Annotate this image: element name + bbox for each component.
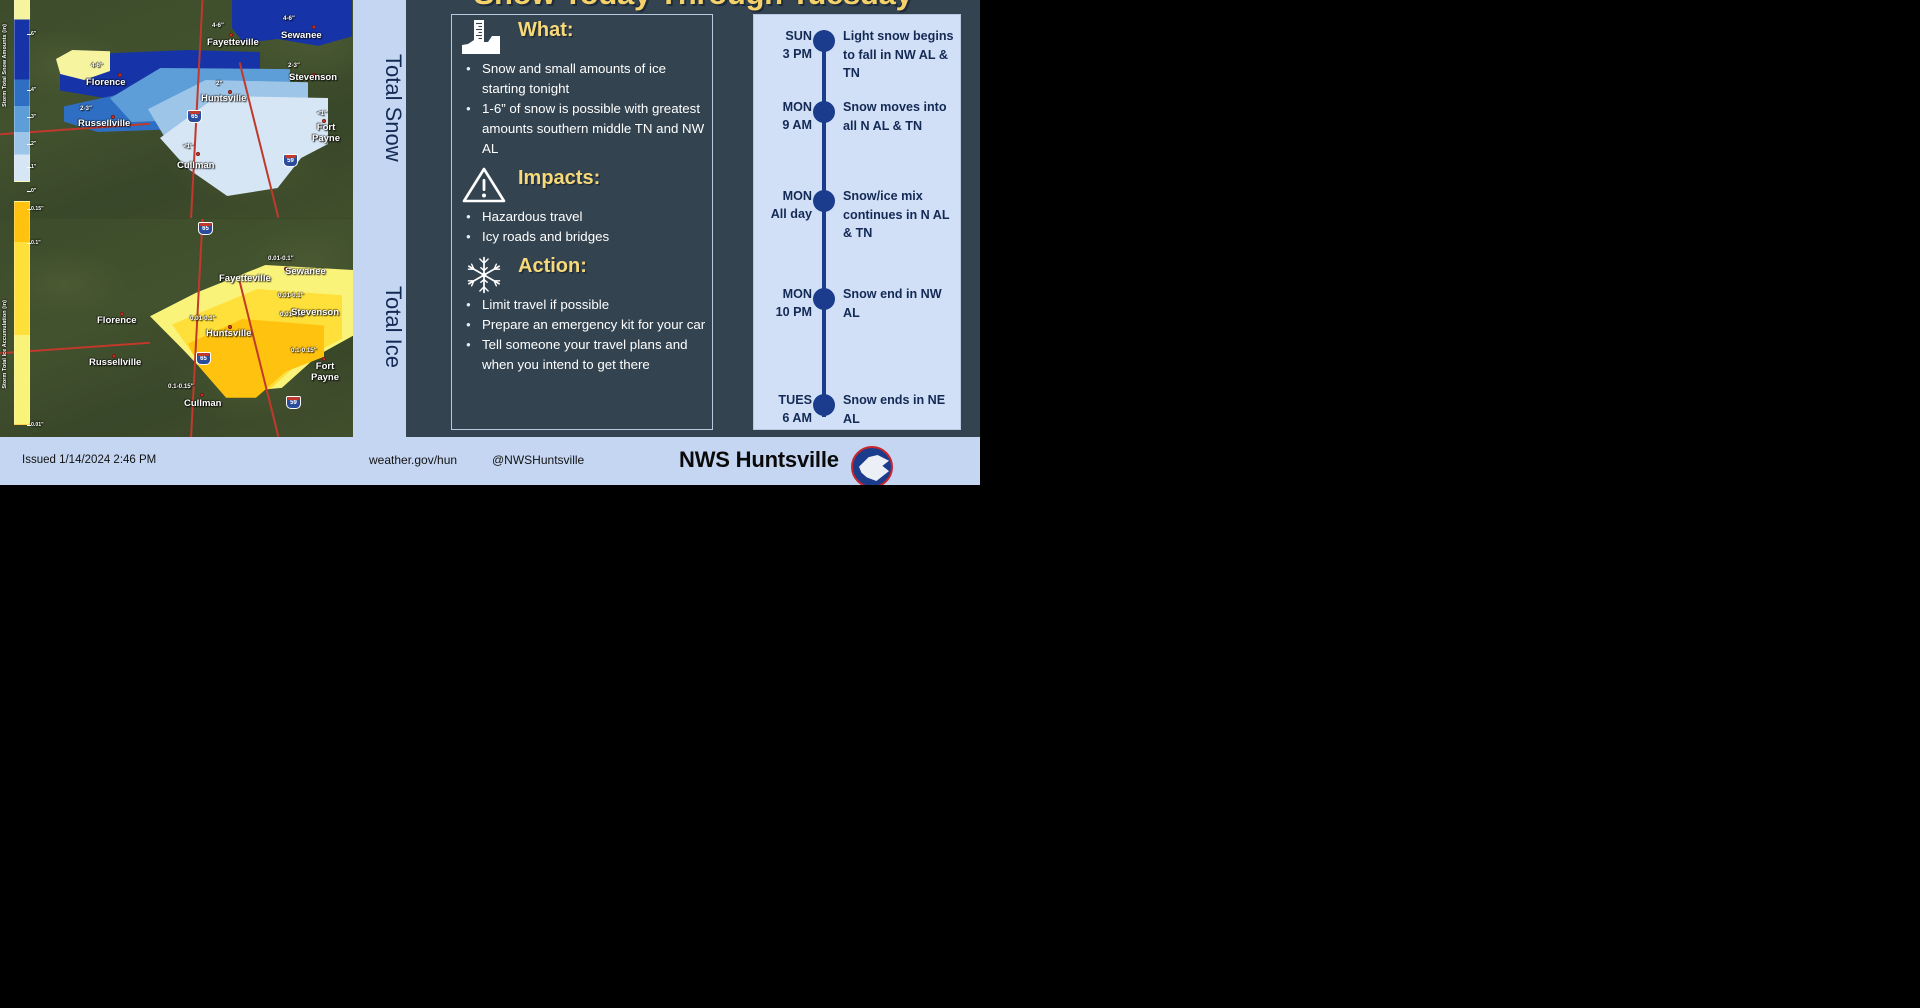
timeline-hour-1: 9 AM bbox=[754, 116, 812, 134]
timeline-day-3: MON bbox=[754, 285, 812, 303]
ice-tick-015: 0.15" bbox=[31, 206, 44, 212]
snow-scale-title: Storm Total Snow Amounts (in) bbox=[2, 24, 8, 107]
snow-tick-1: 1" bbox=[31, 164, 36, 170]
timeline-axis bbox=[822, 35, 826, 417]
timeline-event-0: Light snow begins to fall in NW AL & TN bbox=[843, 27, 959, 83]
timeline-time-4: TUES 6 AM bbox=[754, 391, 812, 427]
what-bullets: Snow and small amounts of ice starting t… bbox=[452, 59, 712, 159]
ice-city-label-fort-payne: Fort Payne bbox=[306, 361, 344, 383]
timeline-event-2: Snow/ice mix continues in N AL & TN bbox=[843, 187, 959, 243]
storm-timeline: SUN 3 PM Light snow begins to fall in NW… bbox=[753, 14, 961, 430]
city-label-russellville: Russellville bbox=[78, 118, 130, 129]
ice-amount-cullman: 0.1-0.15" bbox=[168, 383, 194, 390]
ice-tick-001: 0.01" bbox=[31, 422, 44, 428]
ice-city-label-cullman: Cullman bbox=[184, 398, 221, 409]
what-section-title: What: bbox=[518, 19, 574, 42]
weather-graphic: 65 59 4-6" Fayetteville 4-6" Sewanee 4-6… bbox=[0, 0, 980, 485]
snow-amount-russellville: 2-3" bbox=[80, 105, 92, 112]
highway-shield-59: 59 bbox=[283, 154, 298, 167]
timeline-day-2: MON bbox=[754, 187, 812, 205]
snow-amount-sewanee: 4-6" bbox=[283, 15, 295, 22]
timeline-hour-4: 6 AM bbox=[754, 409, 812, 427]
what-impacts-action-card: What: Snow and small amounts of ice star… bbox=[451, 14, 713, 430]
list-item: Snow and small amounts of ice starting t… bbox=[452, 59, 712, 99]
city-label-fort-payne: Fort Payne bbox=[308, 122, 344, 144]
highway-shield-65b-ice: 65 bbox=[196, 352, 211, 365]
timeline-day-4: TUES bbox=[754, 391, 812, 409]
timeline-day-1: MON bbox=[754, 98, 812, 116]
snow-tick-4: 4" bbox=[31, 87, 36, 93]
ice-color-scale bbox=[14, 201, 30, 425]
what-section-header: What: bbox=[452, 15, 712, 59]
action-section-title: Action: bbox=[518, 255, 587, 278]
maps-column: 65 59 4-6" Fayetteville 4-6" Sewanee 4-6… bbox=[0, 0, 353, 437]
city-label-fayetteville: Fayetteville bbox=[207, 37, 259, 48]
timeline-dot-1 bbox=[813, 101, 835, 123]
page-title: Snow Today Through Tuesday bbox=[406, 0, 980, 10]
timeline-hour-0: 3 PM bbox=[754, 45, 812, 63]
list-item: Icy roads and bridges bbox=[452, 227, 712, 247]
list-item: 1-6” of snow is possible with greatest a… bbox=[452, 99, 712, 159]
ice-tick-01: 0.1" bbox=[31, 240, 41, 246]
list-item: Limit travel if possible bbox=[452, 295, 712, 315]
city-label-huntsville: Huntsville bbox=[201, 93, 246, 104]
ice-city-label-sewanee: Sewanee bbox=[285, 266, 326, 277]
warning-triangle-icon bbox=[460, 165, 508, 205]
ice-amount-fort-payne: 0.1-0.15" bbox=[291, 347, 317, 354]
ice-amount-sewanee: 0.01-0.1" bbox=[278, 292, 304, 299]
list-item: Hazardous travel bbox=[452, 207, 712, 227]
highway-shield-65: 65 bbox=[187, 110, 202, 123]
city-label-sewanee: Sewanee bbox=[281, 30, 322, 41]
timeline-time-2: MON All day bbox=[754, 187, 812, 223]
impacts-section-title: Impacts: bbox=[518, 167, 600, 190]
snow-depth-ruler-icon bbox=[460, 17, 508, 57]
website-link[interactable]: weather.gov/hun bbox=[369, 453, 457, 467]
action-section-header: Action: bbox=[452, 253, 712, 295]
ice-city-dot-cullman bbox=[200, 393, 204, 397]
ice-amount-huntsville: 0.01-0.1" bbox=[190, 315, 216, 322]
list-item: Prepare an emergency kit for your car bbox=[452, 315, 712, 335]
rail-label-total-snow: Total Snow bbox=[353, 8, 406, 208]
ice-city-label-florence: Florence bbox=[97, 315, 137, 326]
timeline-dot-3 bbox=[813, 288, 835, 310]
ice-city-label-fayetteville: Fayetteville bbox=[219, 273, 271, 284]
city-label-stevenson: Stevenson bbox=[289, 72, 337, 83]
snow-tick-3: 3" bbox=[31, 114, 36, 120]
ice-map: 65 65 59 0.01-0.1" Fayetteville 0.01-0.1… bbox=[0, 219, 353, 437]
snow-map: 65 59 4-6" Fayetteville 4-6" Sewanee 4-6… bbox=[0, 0, 353, 218]
snow-amount-fayetteville: 4-6" bbox=[212, 22, 224, 29]
rail-label-total-ice: Total Ice bbox=[353, 252, 406, 402]
impacts-bullets: Hazardous travel Icy roads and bridges bbox=[452, 207, 712, 247]
timeline-dot-4 bbox=[813, 394, 835, 416]
timeline-event-3: Snow end in NW AL bbox=[843, 285, 959, 322]
timeline-event-1: Snow moves into all N AL & TN bbox=[843, 98, 959, 135]
footer: Issued 1/14/2024 2:46 PM weather.gov/hun… bbox=[0, 437, 980, 485]
noaa-logo bbox=[851, 446, 893, 485]
action-bullets: Limit travel if possible Prepare an emer… bbox=[452, 295, 712, 375]
ice-city-label-russellville: Russellville bbox=[89, 357, 141, 368]
noaa-bird-shape bbox=[859, 455, 889, 481]
list-item: Tell someone your travel plans and when … bbox=[452, 335, 712, 375]
ice-amount-fayetteville: 0.01-0.1" bbox=[268, 255, 294, 262]
section-rail: Total Snow Total Ice bbox=[353, 0, 406, 437]
snowflake-icon bbox=[460, 253, 508, 293]
snow-amount-huntsville: 2" bbox=[216, 80, 222, 87]
city-label-florence: Florence bbox=[86, 77, 126, 88]
timeline-dot-2 bbox=[813, 190, 835, 212]
timeline-hour-2: All day bbox=[754, 205, 812, 223]
snow-tick-2: 2" bbox=[31, 141, 36, 147]
snow-amount-stevenson: 2-3" bbox=[288, 62, 300, 69]
timeline-time-3: MON 10 PM bbox=[754, 285, 812, 321]
timeline-dot-0 bbox=[813, 30, 835, 52]
snow-tick-0: 0" bbox=[31, 188, 36, 194]
timeline-time-1: MON 9 AM bbox=[754, 98, 812, 134]
office-name: NWS Huntsville bbox=[679, 447, 839, 473]
timeline-event-4: Snow ends in NE AL bbox=[843, 391, 959, 428]
city-dot-sewanee bbox=[312, 25, 316, 29]
snow-amount-cullman: <1" bbox=[183, 143, 193, 150]
ice-city-label-huntsville: Huntsville bbox=[206, 328, 251, 339]
twitter-handle[interactable]: @NWSHuntsville bbox=[492, 453, 584, 467]
snow-amount-fort-payne: <1" bbox=[317, 110, 327, 117]
city-label-cullman: Cullman bbox=[177, 160, 214, 171]
impacts-section-header: Impacts: bbox=[452, 165, 712, 207]
highway-shield-65-ice: 65 bbox=[198, 222, 213, 235]
snow-amount-florence: 4-6" bbox=[91, 62, 103, 69]
timeline-hour-3: 10 PM bbox=[754, 303, 812, 321]
timeline-day-0: SUN bbox=[754, 27, 812, 45]
highway-shield-59-ice: 59 bbox=[286, 396, 301, 409]
city-dot-cullman bbox=[196, 152, 200, 156]
timeline-time-0: SUN 3 PM bbox=[754, 27, 812, 63]
issued-timestamp: Issued 1/14/2024 2:46 PM bbox=[22, 454, 156, 466]
ice-scale-title: Storm Total Ice Accumulation (in) bbox=[2, 300, 8, 389]
snow-tick-6: 6" bbox=[31, 31, 36, 37]
snow-color-scale bbox=[14, 0, 30, 182]
ice-city-label-stevenson: Stevenson bbox=[291, 307, 339, 318]
